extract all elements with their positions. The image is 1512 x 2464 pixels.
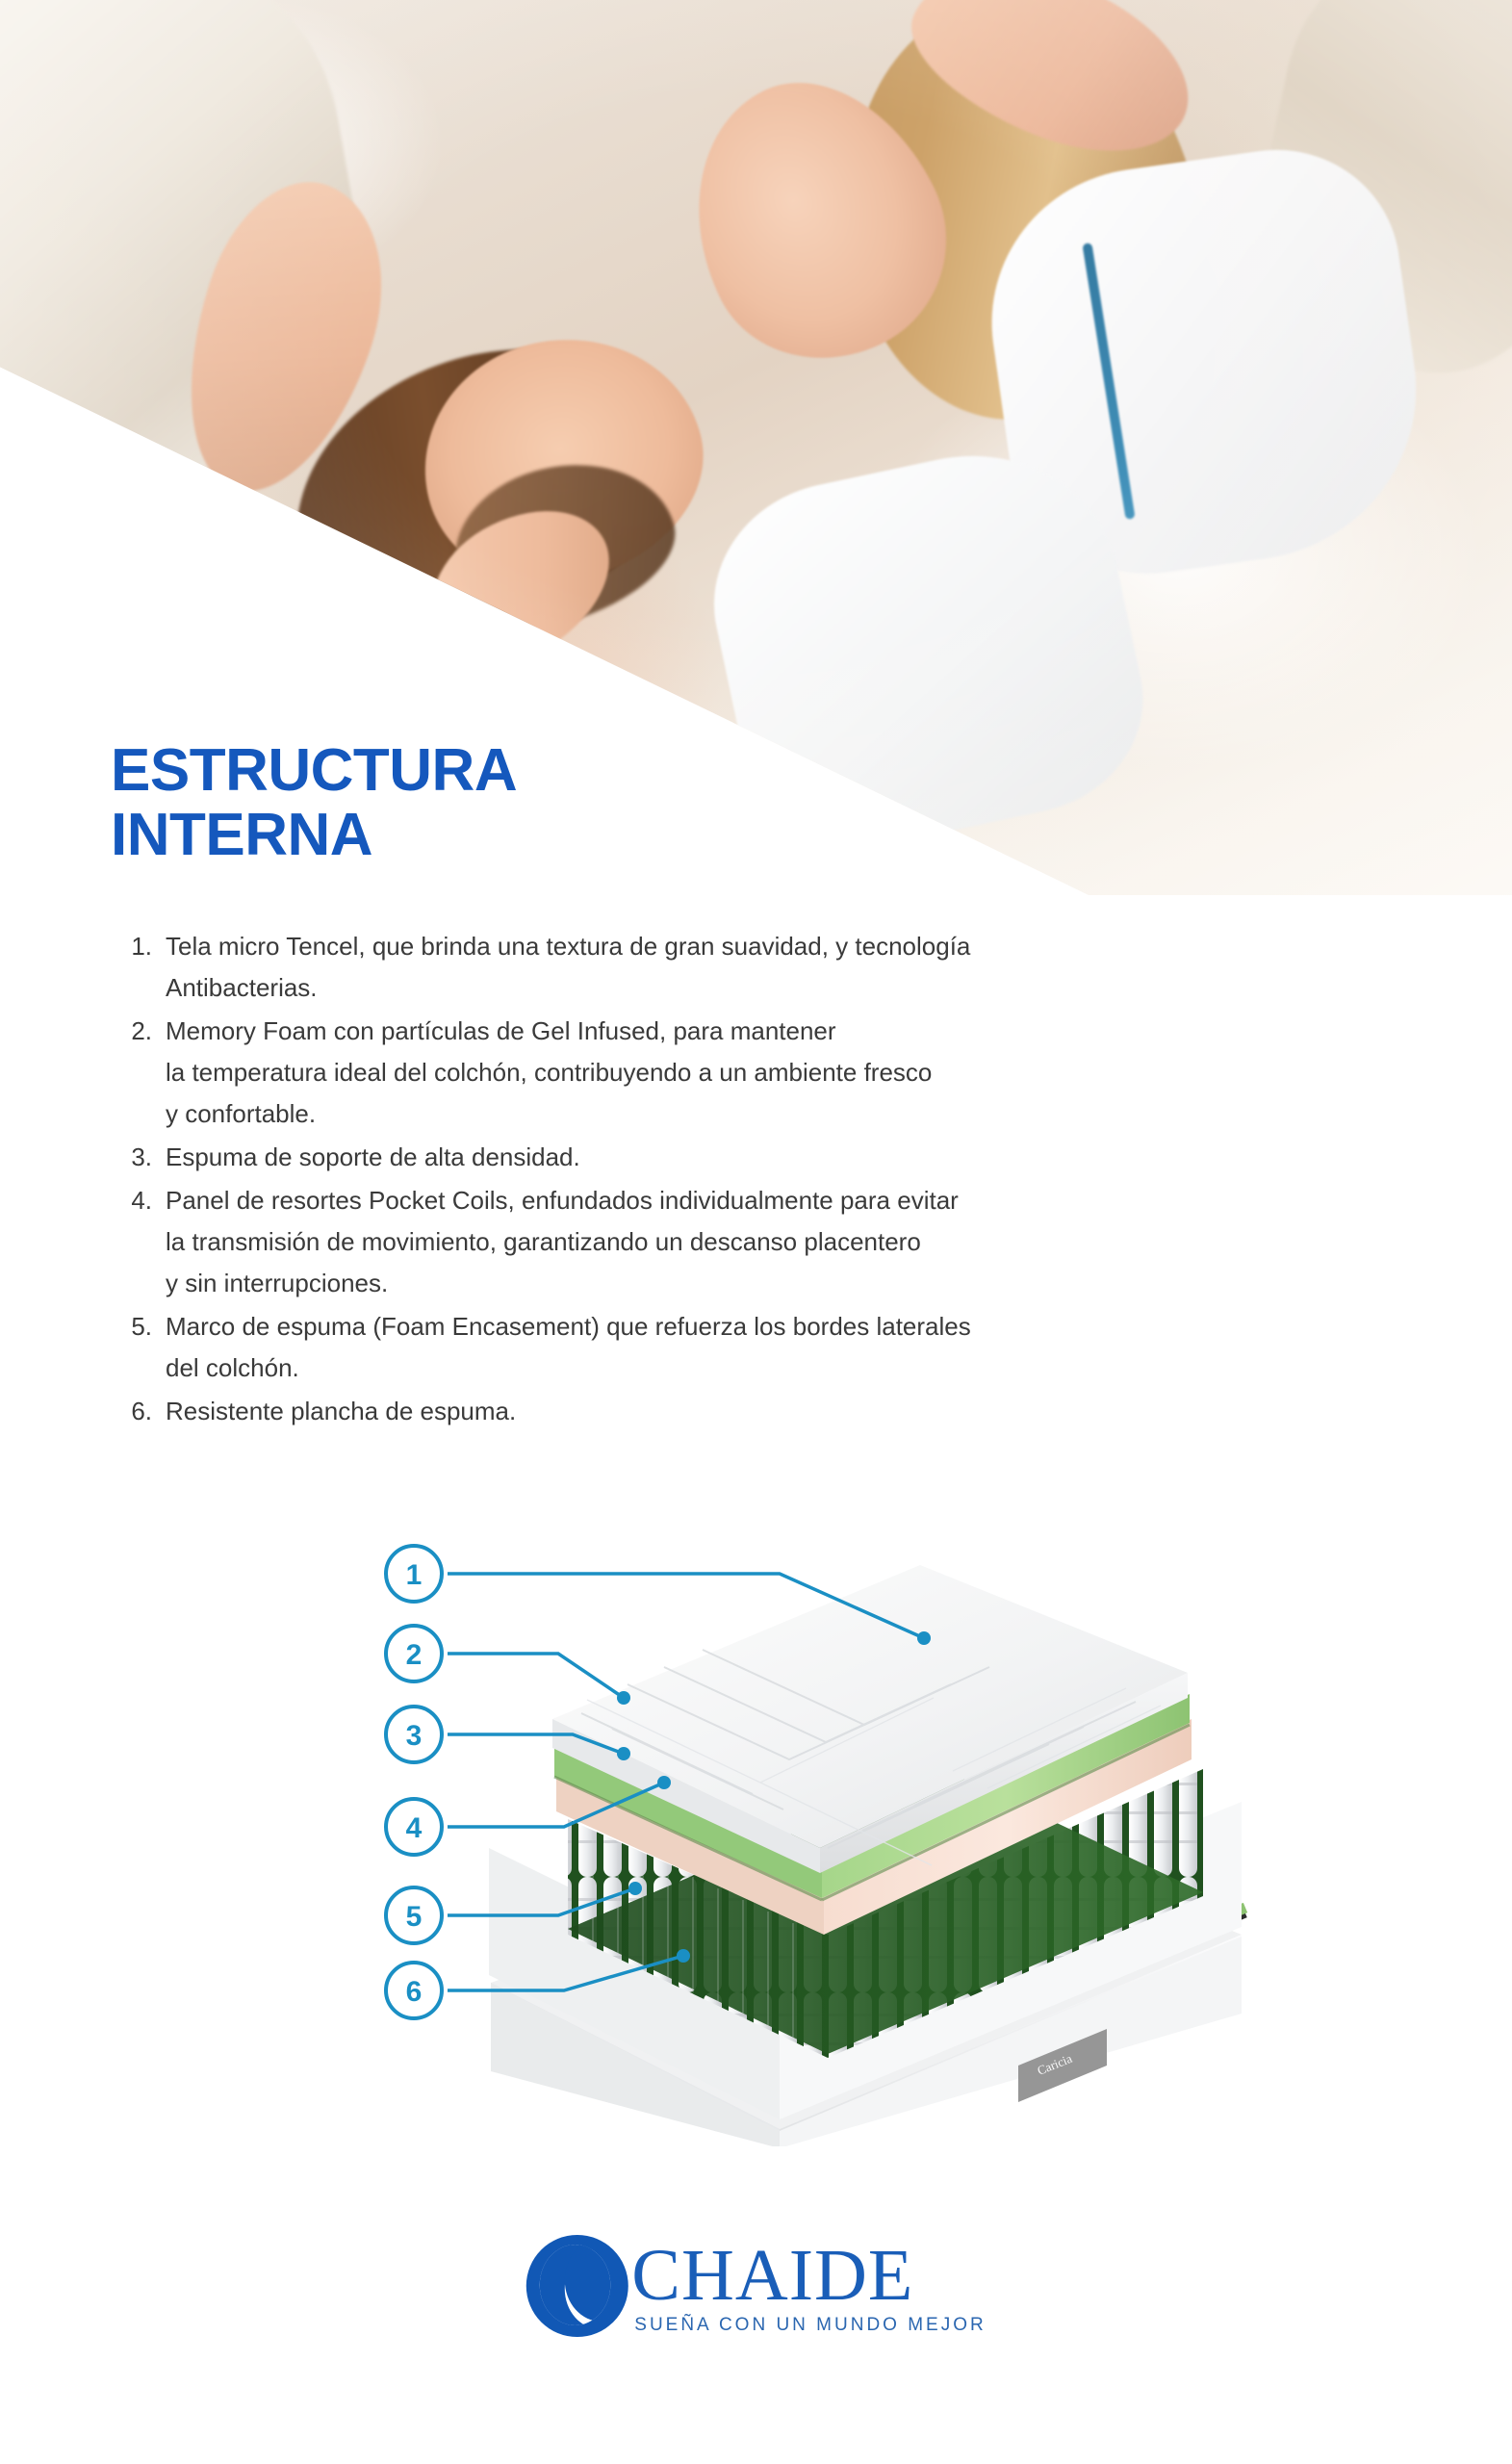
callout-label-2: 2 <box>406 1639 423 1671</box>
brand-name: CHAIDE <box>631 2239 986 2312</box>
callout-label-1: 1 <box>406 1559 423 1591</box>
list-item-text: Tela micro Tencel, que brinda una textur… <box>166 926 1297 1009</box>
moon-shape <box>539 2245 610 2325</box>
list-item-number: 2. <box>123 1011 166 1052</box>
list-item: 6. Resistente plancha de espuma. <box>123 1391 1297 1432</box>
list-item: 1. Tela micro Tencel, que brinda una tex… <box>123 926 1297 1009</box>
callout-dot-4 <box>657 1776 671 1789</box>
callout-dot-6 <box>677 1949 690 1963</box>
list-item-number: 1. <box>123 926 166 967</box>
callout-badges: 1 2 3 4 5 <box>386 1546 442 2018</box>
list-item-number: 6. <box>123 1391 166 1432</box>
brand-tagline: SUEÑA CON UN MUNDO MEJOR <box>634 2316 986 2334</box>
page-title: ESTRUCTURA INTERNA <box>111 739 517 868</box>
list-item-text: Memory Foam con partículas de Gel Infuse… <box>166 1011 1297 1135</box>
brand-logo-text: CHAIDE SUEÑA CON UN MUNDO MEJOR <box>631 2239 986 2334</box>
callout-label-5: 5 <box>406 1901 423 1933</box>
list-item: 3. Espuma de soporte de alta densidad. <box>123 1137 1297 1178</box>
list-item-number: 5. <box>123 1306 166 1347</box>
callout-dot-3 <box>617 1747 630 1760</box>
callout-badge-5: 5 <box>386 1887 442 1943</box>
list-item-text: Resistente plancha de espuma. <box>166 1391 1297 1432</box>
callout-label-4: 4 <box>406 1812 423 1844</box>
callout-badge-3: 3 <box>386 1707 442 1762</box>
feature-list: 1. Tela micro Tencel, que brinda una tex… <box>123 926 1297 1434</box>
callout-label-3: 3 <box>406 1720 423 1752</box>
callout-badge-6: 6 <box>386 1963 442 2018</box>
mattress-cutaway-diagram: Caricia <box>375 1530 1338 2146</box>
list-item-number: 3. <box>123 1137 166 1178</box>
callout-line-2 <box>448 1654 624 1698</box>
callout-badge-4: 4 <box>386 1799 442 1855</box>
crescent-moon-circle-icon <box>525 2235 628 2337</box>
callout-dot-5 <box>628 1882 642 1895</box>
list-item-text: Panel de resortes Pocket Coils, enfundad… <box>166 1180 1297 1304</box>
callout-dot-1 <box>917 1631 931 1645</box>
callout-label-6: 6 <box>406 1976 423 2008</box>
list-item-number: 4. <box>123 1180 166 1221</box>
callout-badge-2: 2 <box>386 1626 442 1681</box>
list-item-text: Marco de espuma (Foam Encasement) que re… <box>166 1306 1297 1389</box>
list-item: 5. Marco de espuma (Foam Encasement) que… <box>123 1306 1297 1389</box>
callout-badge-1: 1 <box>386 1546 442 1602</box>
page-root: ESTRUCTURA INTERNA 1. Tela micro Tencel,… <box>0 0 1512 2464</box>
brand-logo: CHAIDE SUEÑA CON UN MUNDO MEJOR <box>525 2235 986 2337</box>
callout-dot-2 <box>617 1691 630 1705</box>
list-item-text: Espuma de soporte de alta densidad. <box>166 1137 1297 1178</box>
list-item: 2. Memory Foam con partículas de Gel Inf… <box>123 1011 1297 1135</box>
list-item: 4. Panel de resortes Pocket Coils, enfun… <box>123 1180 1297 1304</box>
